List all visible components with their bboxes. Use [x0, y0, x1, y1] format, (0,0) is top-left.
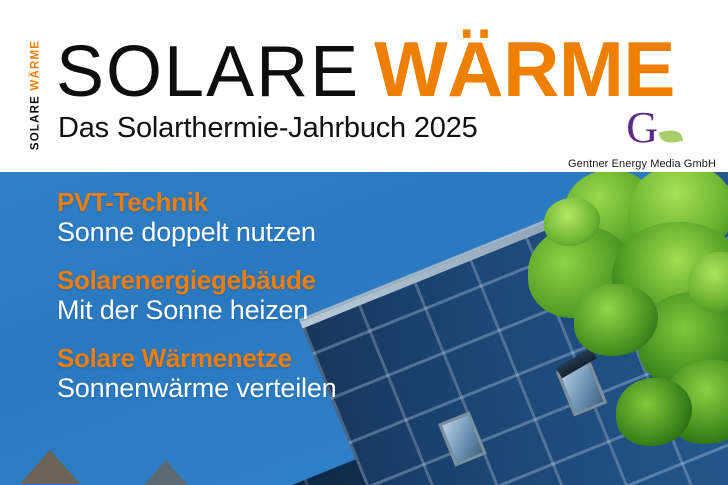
magazine-cover: SOLARE WÄRME SOLAREWÄRME Das Solarthermi… [0, 0, 728, 485]
publisher-logo-block: G Gentner Energy Media GmbH [528, 108, 718, 170]
headline-group: Solarenergiegebäude Mit der Sonne heizen [57, 266, 417, 326]
spine-vertical-title: SOLARE WÄRME [26, 36, 46, 154]
headline-kicker: PVT-Technik [57, 188, 417, 217]
wordmark-waerme: WÄRME [374, 25, 675, 113]
tree-foliage [488, 172, 728, 485]
magazine-wordmark: SOLAREWÄRME [56, 30, 675, 108]
headline-subline: Mit der Sonne heizen [57, 295, 417, 326]
roof-gable [140, 460, 192, 485]
roof-gable [20, 450, 80, 484]
headline-kicker: Solare Wärmenetze [57, 344, 417, 373]
leaf-icon [659, 128, 683, 145]
headline-kicker: Solarenergiegebäude [57, 266, 417, 295]
spine-text-solare: SOLARE [29, 95, 41, 150]
gentner-g-logo-icon: G [626, 106, 658, 150]
wordmark-solare: SOLARE [56, 32, 360, 112]
cover-photo: PVT-Technik Sonne doppelt nutzen Solaren… [0, 172, 728, 485]
cover-headlines: PVT-Technik Sonne doppelt nutzen Solaren… [57, 188, 417, 422]
masthead-header: SOLARE WÄRME SOLAREWÄRME Das Solarthermi… [0, 0, 728, 172]
headline-subline: Sonne doppelt nutzen [57, 217, 417, 248]
headline-group: Solare Wärmenetze Sonnenwärme verteilen [57, 344, 417, 404]
masthead-subtitle: Das Solarthermie-Jahrbuch 2025 [58, 112, 478, 145]
publisher-name: Gentner Energy Media GmbH [568, 158, 716, 170]
spine-text-waerme: WÄRME [29, 40, 41, 91]
headline-subline: Sonnenwärme verteilen [57, 373, 417, 404]
headline-group: PVT-Technik Sonne doppelt nutzen [57, 188, 417, 248]
